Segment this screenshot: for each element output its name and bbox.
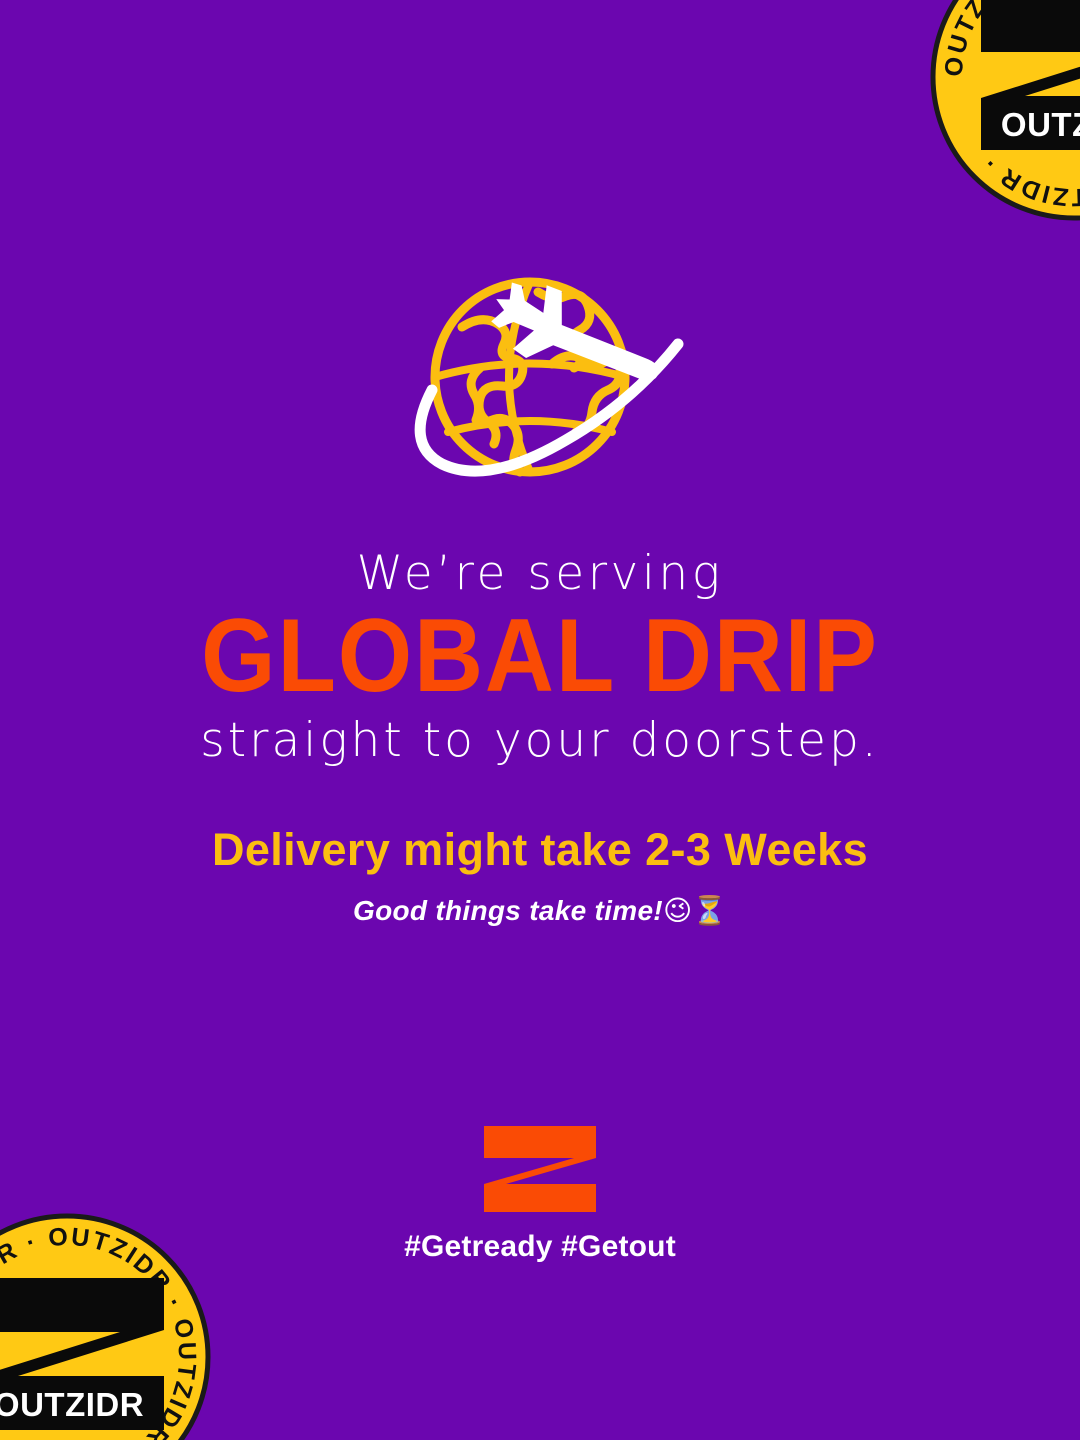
headline-block: We’re serving GLOBAL DRIP straight to yo… <box>0 548 1080 768</box>
hero-icon-container <box>0 272 1080 502</box>
headline-line-3: straight to your doorstep. <box>0 715 1080 768</box>
delivery-block: Delivery might take 2-3 Weeks Good thing… <box>0 824 1080 927</box>
delivery-subtext-label: Good things take time! <box>353 895 663 926</box>
outzidr-badge-bottom-left: OUTZIDR · OUTZIDR · OUTZIDR · OUTZIDR · … <box>0 1212 212 1440</box>
headline-line-2: GLOBAL DRIP <box>43 607 1037 706</box>
wink-hourglass-emoji: 😉⏳ <box>663 894 727 927</box>
outzidr-z-logo <box>478 1122 602 1216</box>
poster-canvas: We’re serving GLOBAL DRIP straight to yo… <box>0 0 1080 1440</box>
delivery-headline: Delivery might take 2-3 Weeks <box>0 824 1080 876</box>
badge-bottom-left-svg: OUTZIDR · OUTZIDR · OUTZIDR · OUTZIDR · … <box>0 1212 212 1440</box>
outzidr-badge-top-right: OUTZIDR · OUTZIDR · OUTZIDR · OUTZIDR · … <box>929 0 1080 227</box>
badge-bottom-left-wordmark: OUTZIDR <box>0 1386 144 1423</box>
badge-top-right-wordmark: OUTZIDR <box>1001 106 1080 143</box>
badge-top-right-svg: OUTZIDR · OUTZIDR · OUTZIDR · OUTZIDR · … <box>929 0 1080 222</box>
globe-airplane-icon <box>370 272 710 502</box>
headline-line-1: We’re serving <box>0 548 1080 601</box>
delivery-subtext: Good things take time!😉⏳ <box>0 894 1080 928</box>
